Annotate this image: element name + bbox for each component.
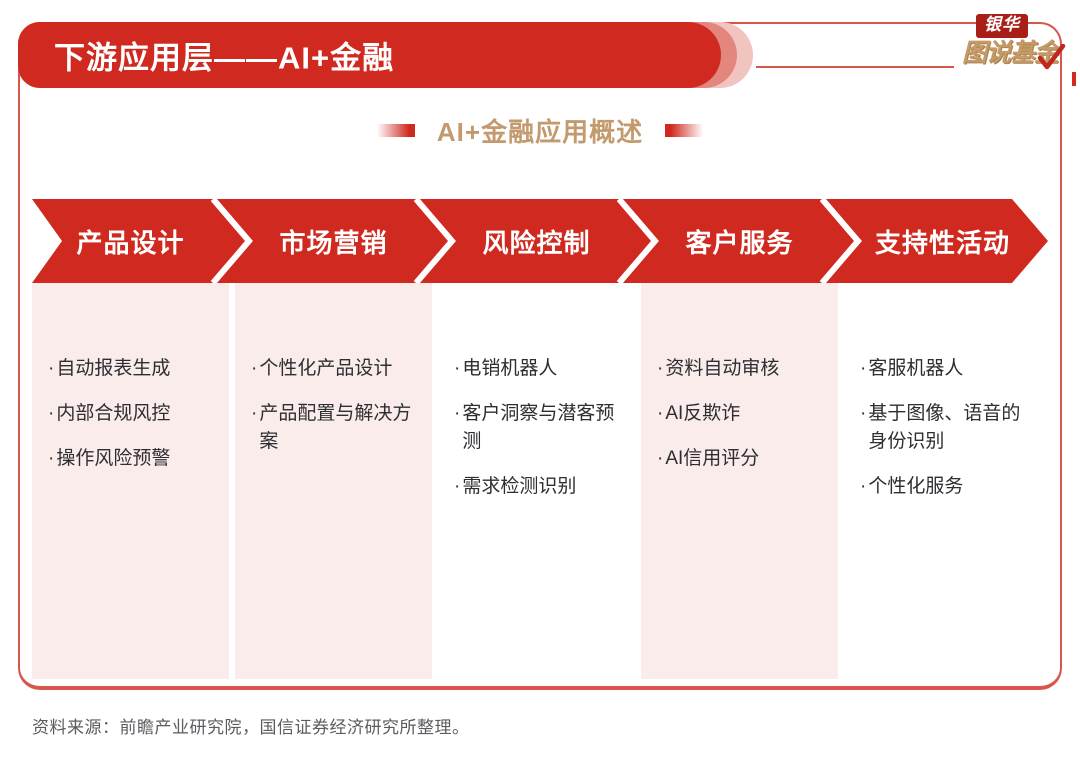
column-items: · 个性化产品设计 · 产品配置与解决方案 (251, 355, 422, 473)
bullet-icon: · (251, 355, 257, 383)
list-item: · 个性化产品设计 (251, 355, 422, 383)
logo-badge-text: 银华 (976, 14, 1028, 38)
bullet-icon: · (860, 355, 866, 383)
column-items: · 电销机器人 · 客户洞察与潜客预测 · 需求检测识别 (454, 355, 625, 518)
list-item: · 客户洞察与潜客预测 (454, 400, 625, 456)
list-item-label: 个性化服务 (868, 473, 1031, 501)
list-item-label: 电销机器人 (462, 355, 625, 383)
list-item-label: 自动报表生成 (56, 355, 219, 383)
column-panel-risk-control: · 资料自动审核 · AI反欺诈 · AI信用评分 (641, 283, 838, 679)
list-item-label: 客户洞察与潜客预测 (462, 400, 625, 456)
list-item: · 客服机器人 (860, 355, 1031, 383)
column-header-support-activities[interactable]: 支持性活动 (844, 199, 1041, 283)
list-item: · AI信用评分 (657, 445, 828, 473)
list-item-label: 个性化产品设计 (259, 355, 422, 383)
bullet-icon: · (454, 473, 460, 501)
list-item: · 基于图像、语音的身份识别 (860, 400, 1031, 456)
list-item: · 内部合规风控 (48, 400, 219, 428)
column-header-product-design[interactable]: 产品设计 (32, 199, 229, 283)
bullet-icon: · (48, 355, 54, 383)
brand-logo: 银华 图说基金 (962, 14, 1066, 90)
page-title: 下游应用层——AI+金融 (54, 33, 394, 78)
list-item: · 电销机器人 (454, 355, 625, 383)
column-items: · 自动报表生成 · 内部合规风控 · 操作风险预警 (48, 355, 219, 490)
list-item-label: 需求检测识别 (462, 473, 625, 501)
list-item: · 资料自动审核 (657, 355, 828, 383)
list-item-label: 客服机器人 (868, 355, 1031, 383)
bullet-icon: · (657, 355, 663, 383)
dash-left-icon (377, 124, 415, 137)
column-items: · 资料自动审核 · AI反欺诈 · AI信用评分 (657, 355, 828, 490)
chevron-labels: 产品设计 市场营销 风险控制 客户服务 支持性活动 (32, 199, 1048, 283)
header-rule (756, 66, 954, 68)
bullet-icon: · (48, 400, 54, 428)
list-item-label: AI信用评分 (665, 445, 828, 473)
logo-accent-tick (1072, 72, 1076, 86)
bullet-icon: · (657, 400, 663, 428)
header-bar: 下游应用层——AI+金融 (18, 22, 1062, 88)
column-panel-product-design: · 个性化产品设计 · 产品配置与解决方案 (235, 283, 432, 679)
bullet-icon: · (860, 400, 866, 428)
list-item: · 产品配置与解决方案 (251, 400, 422, 456)
bullet-icon: · (657, 445, 663, 473)
column-header-risk-control[interactable]: 风险控制 (438, 199, 635, 283)
list-item: · 操作风险预警 (48, 445, 219, 473)
list-item-label: 操作风险预警 (56, 445, 219, 473)
bullet-icon: · (454, 400, 460, 428)
column-header-marketing[interactable]: 市场营销 (235, 199, 432, 283)
column-header-customer-service[interactable]: 客户服务 (641, 199, 838, 283)
subtitle-row: AI+金融应用概述 (0, 112, 1080, 149)
bullet-icon: · (860, 473, 866, 501)
column-items: · 客服机器人 · 基于图像、语音的身份识别 · 个性化服务 (860, 355, 1031, 518)
column-panel-support-activities: · 自动报表生成 · 内部合规风控 · 操作风险预警 (32, 283, 229, 679)
list-item: · AI反欺诈 (657, 400, 828, 428)
bullet-icon: · (251, 400, 257, 428)
source-note: 资料来源：前瞻产业研究院，国信证券经济研究所整理。 (32, 713, 470, 738)
subtitle-text: AI+金融应用概述 (437, 112, 643, 149)
dash-right-icon (665, 124, 703, 137)
bullet-icon: · (454, 355, 460, 383)
list-item: · 个性化服务 (860, 473, 1031, 501)
list-item-label: 产品配置与解决方案 (259, 400, 422, 456)
bullet-icon: · (48, 445, 54, 473)
list-item-label: 基于图像、语音的身份识别 (868, 400, 1031, 456)
column-panel-customer-service: · 客服机器人 · 基于图像、语音的身份识别 · 个性化服务 (844, 283, 1041, 679)
list-item-label: 资料自动审核 (665, 355, 828, 383)
list-item: · 需求检测识别 (454, 473, 625, 501)
column-panel-marketing: · 电销机器人 · 客户洞察与潜客预测 · 需求检测识别 (438, 283, 635, 679)
list-item: · 自动报表生成 (48, 355, 219, 383)
process-columns: 产品设计 市场营销 风险控制 客户服务 支持性活动 · 个性化产品设计 · 产品… (32, 199, 1048, 679)
check-icon (1036, 44, 1066, 74)
list-item-label: 内部合规风控 (56, 400, 219, 428)
list-item-label: AI反欺诈 (665, 400, 828, 428)
